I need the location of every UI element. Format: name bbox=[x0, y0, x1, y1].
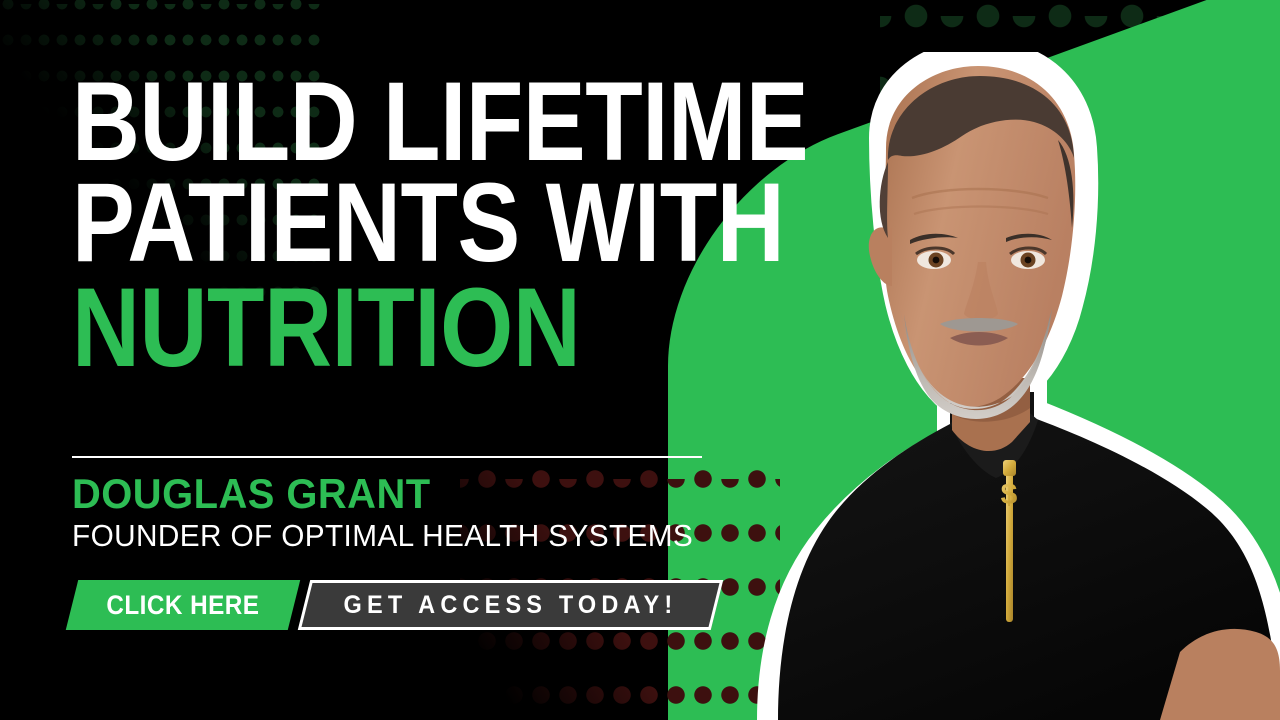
headline-line-2: PATIENTS WITH bbox=[72, 173, 610, 274]
dollar-sign-zipper-pull: $ bbox=[1001, 478, 1018, 511]
headline-line-1: BUILD LIFETIME bbox=[72, 72, 610, 173]
presenter-name: DOUGLAS GRANT bbox=[72, 472, 687, 516]
get-access-today-button[interactable]: GET ACCESS TODAY! bbox=[298, 580, 724, 630]
cta-row: CLICK HERE GET ACCESS TODAY! bbox=[72, 580, 717, 630]
headline-line-3-accent: NUTRITION bbox=[72, 278, 610, 379]
get-access-today-button-label: GET ACCESS TODAY! bbox=[344, 591, 678, 620]
presenter-block: DOUGLAS GRANT FOUNDER OF OPTIMAL HEALTH … bbox=[72, 472, 719, 553]
click-here-button-label: CLICK HERE bbox=[107, 590, 260, 621]
promo-banner: $ bbox=[0, 0, 1280, 720]
headline-block: BUILD LIFETIME PATIENTS WITH NUTRITION bbox=[72, 72, 712, 378]
divider bbox=[72, 456, 702, 458]
presenter-role: FOUNDER OF OPTIMAL HEALTH SYSTEMS bbox=[72, 519, 693, 553]
click-here-button[interactable]: CLICK HERE bbox=[66, 580, 300, 630]
